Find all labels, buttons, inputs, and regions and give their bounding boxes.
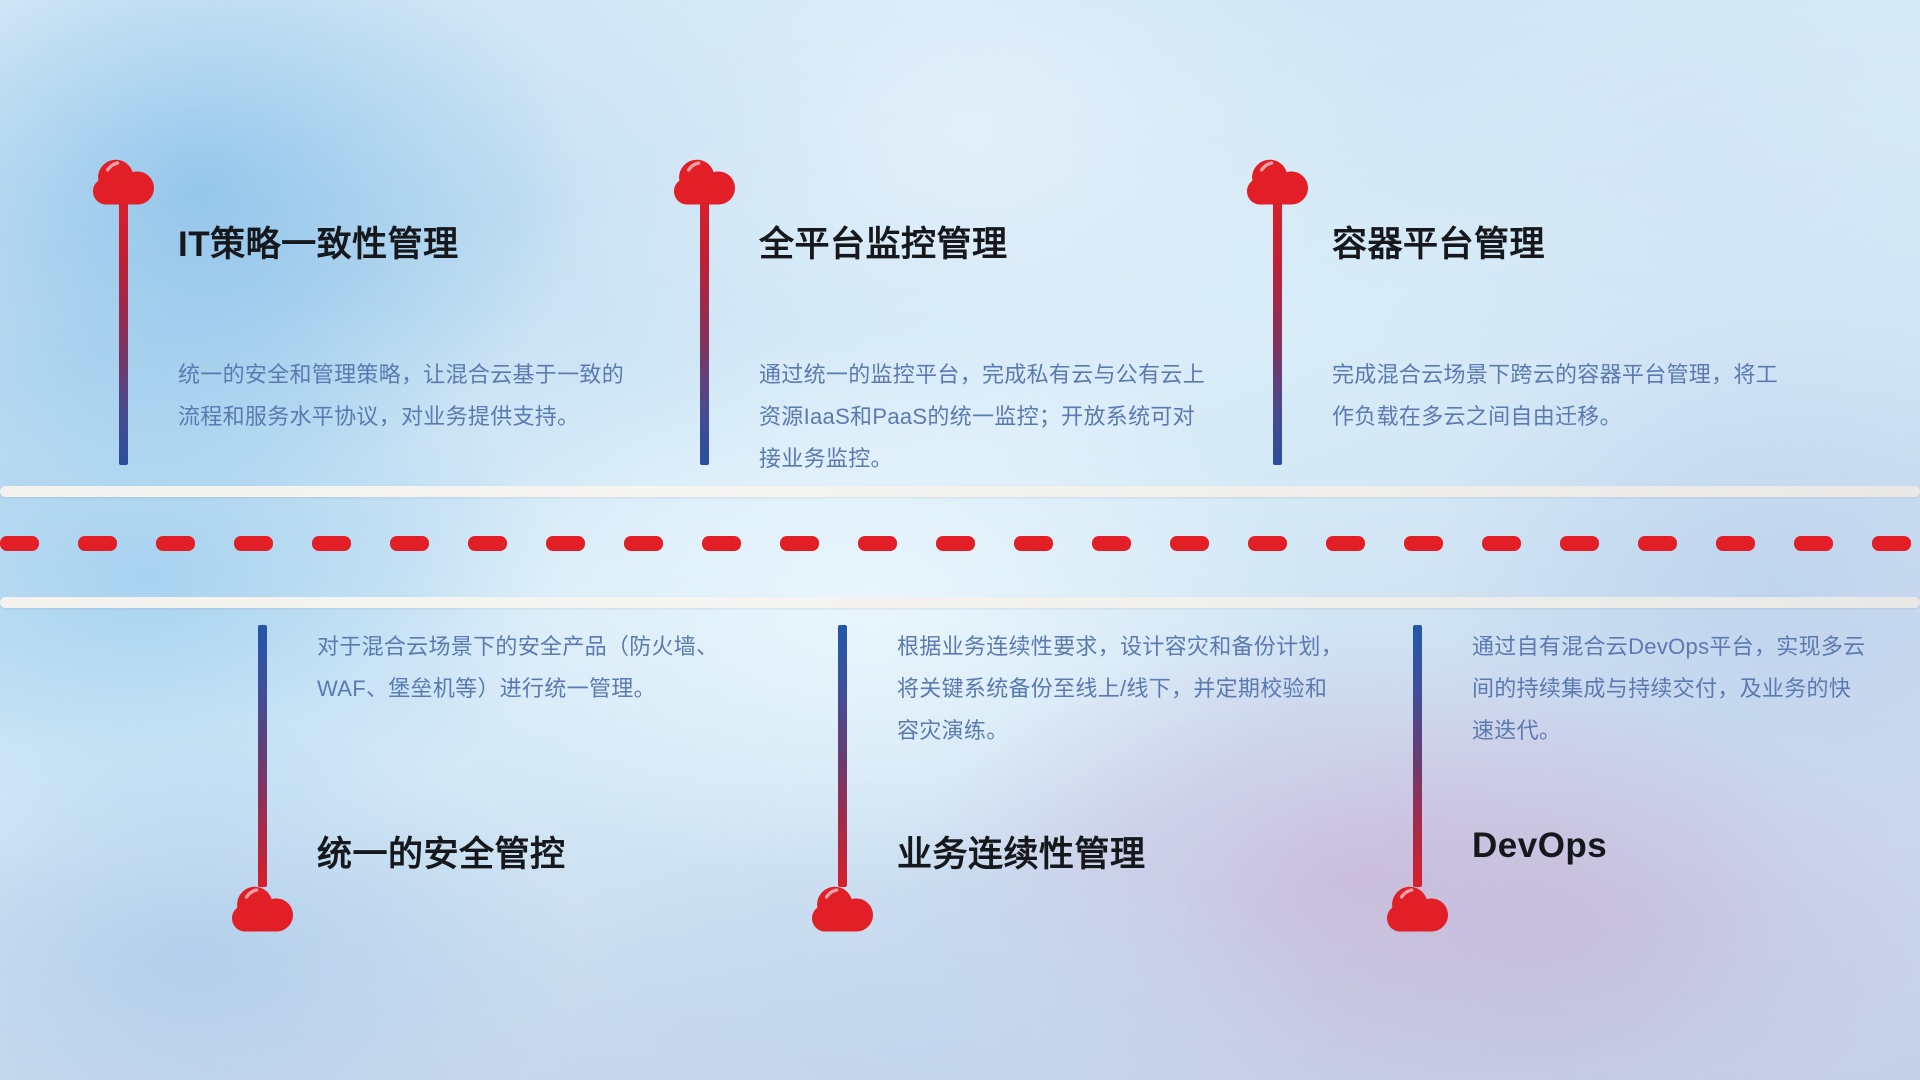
marker-title: 全平台监控管理 (759, 216, 1008, 267)
road-curb-top (0, 486, 1920, 497)
road-dash (1014, 536, 1053, 551)
marker-stem (1413, 625, 1422, 887)
marker-body: 根据业务连续性要求，设计容灾和备份计划，将关键系统备份至线上/线下，并定期校验和… (897, 626, 1349, 752)
marker-title: 容器平台管理 (1332, 216, 1545, 267)
road-dash (312, 536, 351, 551)
marker-body: 通过统一的监控平台，完成私有云与公有云上资源IaaS和PaaS的统一监控；开放系… (759, 354, 1211, 480)
marker-title: 业务连续性管理 (897, 826, 1146, 877)
road-dash (1794, 536, 1833, 551)
road-dash (702, 536, 741, 551)
marker-body: 对于混合云场景下的安全产品（防火墙、WAF、堡垒机等）进行统一管理。 (317, 626, 769, 710)
road-dash (1638, 536, 1677, 551)
cloud-pin-icon (1387, 886, 1449, 932)
road-dash (624, 536, 663, 551)
road-dash (1872, 536, 1911, 551)
road-center-dashed-line (0, 536, 1920, 551)
road-dash (1404, 536, 1443, 551)
marker-stem (838, 625, 847, 887)
road-dash (468, 536, 507, 551)
road-dash (156, 536, 195, 551)
road-dash (390, 536, 429, 551)
marker-title: 统一的安全管控 (317, 826, 566, 877)
cloud-pin-icon (232, 886, 294, 932)
cloud-pin-icon (93, 159, 155, 205)
cloud-pin-icon (1247, 159, 1309, 205)
road-dash (936, 536, 975, 551)
marker-body: 通过自有混合云DevOps平台，实现多云间的持续集成与持续交付，及业务的快速迭代… (1472, 626, 1872, 752)
road-dash (858, 536, 897, 551)
cloud-pin-icon (812, 886, 874, 932)
road-divider (0, 486, 1920, 608)
marker-stem (1273, 203, 1282, 465)
marker-title: IT策略一致性管理 (178, 216, 459, 267)
road-dash (1326, 536, 1365, 551)
road-dash (1248, 536, 1287, 551)
road-dash (0, 536, 39, 551)
marker-body: 完成混合云场景下跨云的容器平台管理，将工作负载在多云之间自由迁移。 (1332, 354, 1784, 438)
road-dash (1092, 536, 1131, 551)
marker-stem (119, 203, 128, 465)
road-dash (78, 536, 117, 551)
road-curb-bottom (0, 597, 1920, 608)
road-dash (1716, 536, 1755, 551)
marker-body: 统一的安全和管理策略，让混合云基于一致的流程和服务水平协议，对业务提供支持。 (178, 354, 630, 438)
marker-title: DevOps (1472, 826, 1607, 866)
road-dash (546, 536, 585, 551)
road-dash (1560, 536, 1599, 551)
road-dash (1482, 536, 1521, 551)
road-dash (234, 536, 273, 551)
marker-stem (258, 625, 267, 887)
road-dash (780, 536, 819, 551)
cloud-pin-icon (674, 159, 736, 205)
marker-stem (700, 203, 709, 465)
road-dash (1170, 536, 1209, 551)
